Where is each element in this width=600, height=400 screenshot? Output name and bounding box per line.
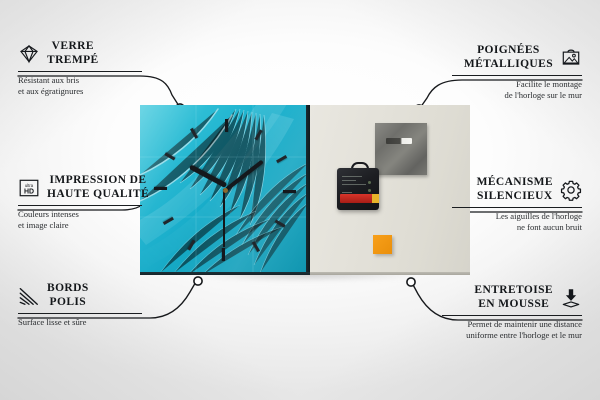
callout-subtitle: Les aiguilles de l'horloge — [452, 211, 582, 221]
plate-mounting-slot — [386, 138, 412, 144]
callout-rule — [452, 207, 582, 208]
callout-mecanisme-silencieux: MÉCANISME SILENCIEUX Les aiguilles de l'… — [452, 176, 582, 232]
callout-entretoise-en-mousse: ENTRETOISE EN MOUSSE Permet de maintenir… — [442, 284, 582, 340]
callout-impression-haute-qualite: ultra HD IMPRESSION DE HAUTE QUALITÉ Cou… — [18, 174, 178, 230]
callout-subtitle: ne font aucun bruit — [452, 222, 582, 232]
quartz-movement-box — [337, 168, 379, 210]
battery-positive-terminal — [372, 194, 379, 203]
foam-spacer — [373, 235, 392, 254]
callout-rule — [452, 75, 582, 76]
callout-subtitle: et aux égratignures — [18, 86, 150, 96]
ultra-hd-icon: ultra HD — [18, 177, 40, 199]
callout-rule — [18, 313, 142, 314]
clock-center-pin — [223, 188, 228, 193]
svg-text:ultra: ultra — [25, 182, 34, 187]
callout-title: POIGNÉES MÉTALLIQUES — [464, 44, 553, 71]
clock-back-panel — [310, 105, 470, 275]
callout-title: ENTRETOISE EN MOUSSE — [474, 284, 553, 311]
callout-title: VERRE TREMPÉ — [47, 40, 99, 67]
callout-subtitle: Résistant aux bris — [18, 75, 150, 85]
product-image — [140, 105, 470, 275]
callout-verre-trempe: VERRE TREMPÉ Résistant aux bris et aux é… — [18, 40, 150, 96]
infographic-canvas: VERRE TREMPÉ Résistant aux bris et aux é… — [0, 0, 600, 400]
callout-title: MÉCANISME SILENCIEUX — [477, 176, 553, 203]
callout-rule — [18, 205, 142, 206]
back-bottom-edge — [310, 272, 470, 275]
callout-subtitle: Couleurs intenses — [18, 209, 178, 219]
callout-subtitle: Permet de maintenir une distance — [442, 319, 582, 329]
callout-bords-polis: BORDS POLIS Surface lisse et sûre — [18, 282, 150, 328]
metallic-hanging-plate — [375, 123, 427, 175]
clock-hour-hand — [189, 164, 228, 188]
diamond-icon — [18, 43, 40, 65]
clock-second-hand — [223, 189, 225, 247]
glass-bottom-edge — [140, 272, 310, 275]
callout-subtitle: de l'horloge sur le mur — [452, 90, 582, 100]
callout-poignees-metalliques: POIGNÉES MÉTALLIQUES Facilite le montage… — [452, 44, 582, 100]
callout-title: IMPRESSION DE HAUTE QUALITÉ — [47, 174, 149, 201]
callout-subtitle: Facilite le montage — [452, 79, 582, 89]
arrow-down-stack-icon — [560, 287, 582, 309]
svg-text:HD: HD — [24, 188, 34, 195]
callout-subtitle: uniforme entre l'horloge et le mur — [442, 330, 582, 340]
callout-subtitle: Surface lisse et sûre — [18, 317, 150, 327]
callout-title: BORDS POLIS — [47, 282, 89, 309]
aa-battery — [340, 194, 376, 203]
callout-rule — [442, 315, 582, 316]
callout-subtitle: et image claire — [18, 220, 178, 230]
callout-rule — [18, 71, 142, 72]
clock-minute-hand — [225, 160, 264, 191]
picture-frame-hanger-icon — [560, 47, 582, 69]
gear-icon — [560, 179, 582, 201]
diagonal-lines-icon — [18, 285, 40, 307]
